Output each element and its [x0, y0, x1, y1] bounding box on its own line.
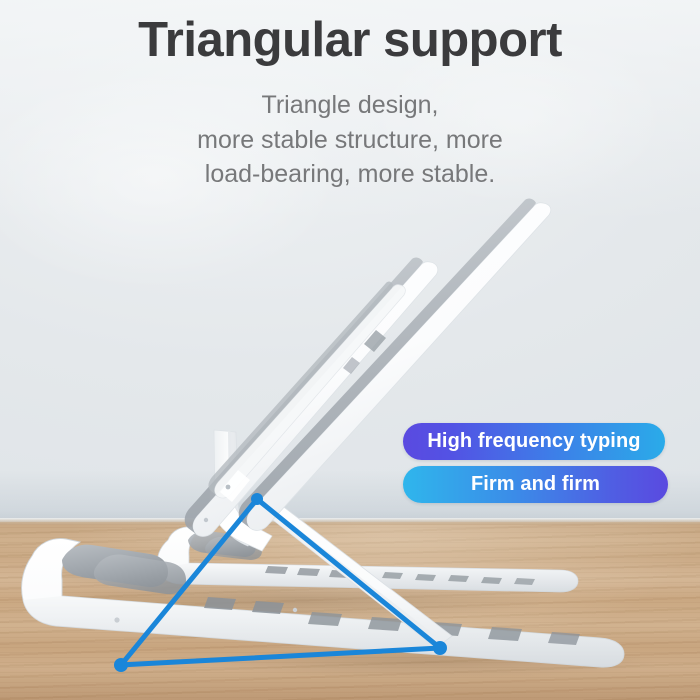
triangle-vertex-bottom-left [114, 658, 128, 672]
subtitle-line-2: more stable structure, more [0, 123, 700, 158]
feature-badge-firm-and-firm: Firm and firm [403, 466, 668, 503]
product-marketing-image: Triangular support Triangle design, more… [0, 0, 700, 700]
subtitle-line-3: load-bearing, more stable. [0, 157, 700, 192]
subtitle-line-1: Triangle design, [0, 88, 700, 123]
page-title: Triangular support [0, 14, 700, 67]
page-subtitle: Triangle design, more stable structure, … [0, 88, 700, 192]
triangle-vertex-apex [251, 493, 263, 505]
feature-badge-high-frequency-typing: High frequency typing [403, 423, 665, 460]
triangle-vertex-bottom-right [433, 641, 447, 655]
